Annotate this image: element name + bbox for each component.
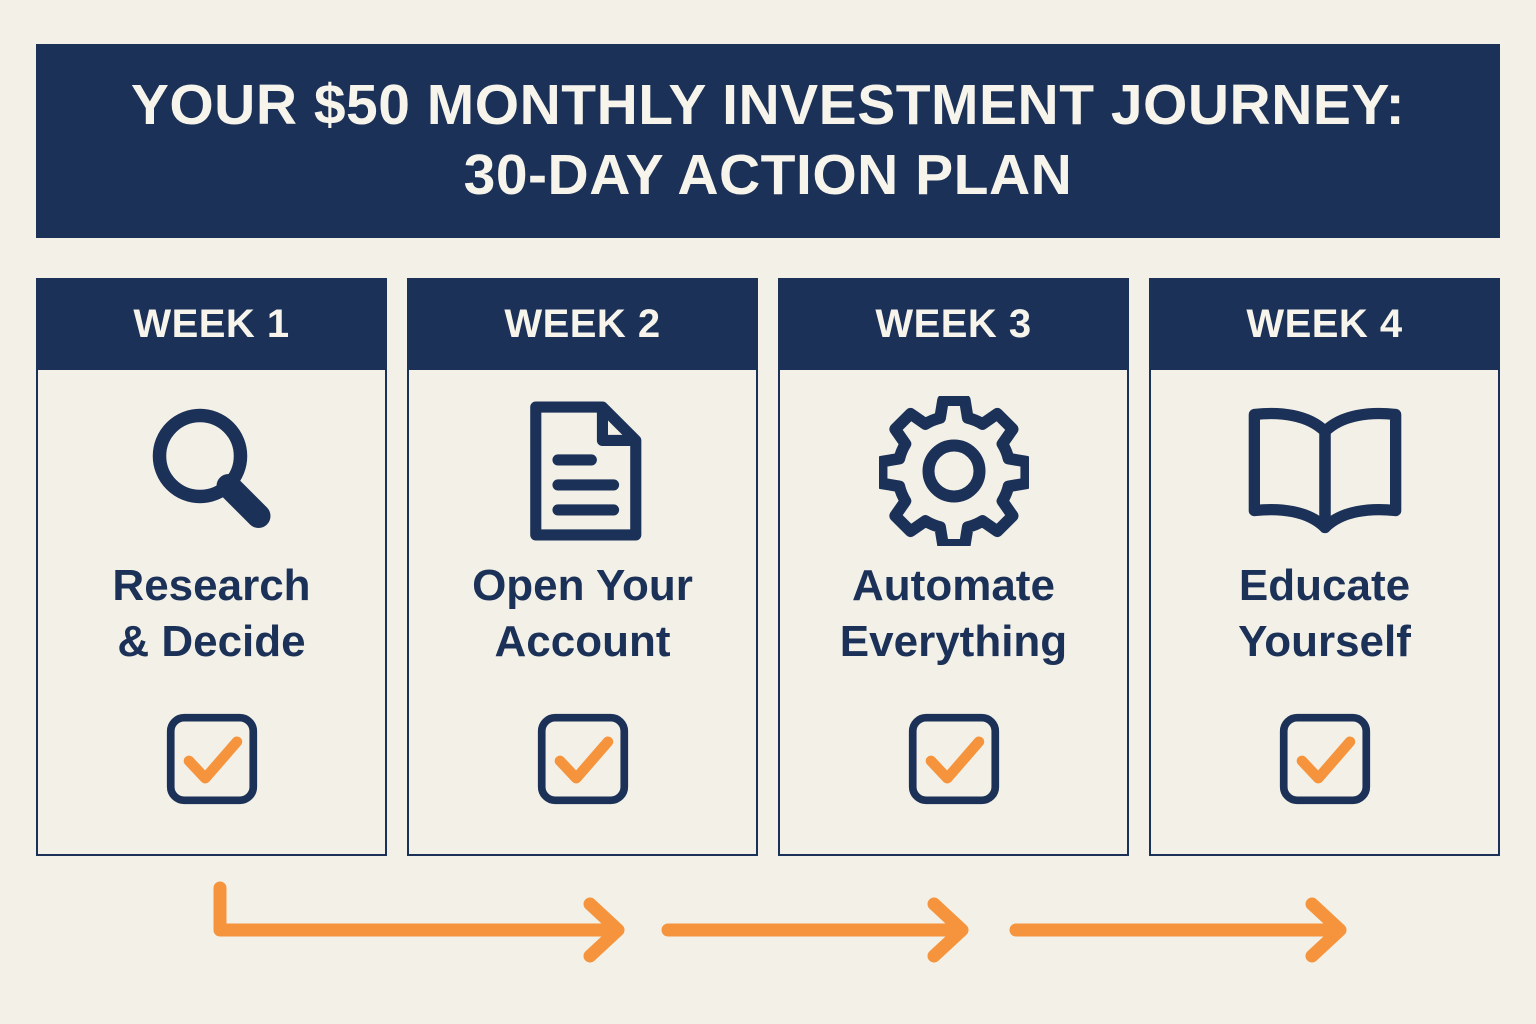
week-card-1-header: WEEK 1 bbox=[36, 278, 387, 370]
week-card-1-header-label: WEEK 1 bbox=[133, 302, 289, 347]
week-card-3-body: Automate Everything bbox=[780, 370, 1127, 854]
week-card-4-checkbox[interactable] bbox=[1277, 711, 1373, 812]
progress-arrow-week1-to-week2 bbox=[208, 868, 648, 992]
title-line-2: 30-DAY ACTION PLAN bbox=[464, 141, 1073, 211]
week-card-4-header-label: WEEK 4 bbox=[1246, 302, 1402, 347]
week-card-2-title: Open Your Account bbox=[472, 558, 693, 671]
week-card-2-body: Open Your Account bbox=[409, 370, 756, 854]
week-card-3[interactable]: WEEK 3 Automate Everything bbox=[778, 278, 1129, 856]
magnifying-glass-icon bbox=[137, 396, 287, 546]
open-book-icon bbox=[1240, 396, 1410, 546]
week-card-1-title: Research & Decide bbox=[112, 558, 310, 671]
title-banner: YOUR $50 MONTHLY INVESTMENT JOURNEY: 30-… bbox=[36, 44, 1500, 238]
week-card-2-header-label: WEEK 2 bbox=[504, 302, 660, 347]
week-card-2-header: WEEK 2 bbox=[407, 278, 758, 370]
week-card-4-header: WEEK 4 bbox=[1149, 278, 1500, 370]
week-card-2[interactable]: WEEK 2 Open Your Account bbox=[407, 278, 758, 856]
week-card-4-title: Educate Yourself bbox=[1238, 558, 1411, 671]
week-card-3-header: WEEK 3 bbox=[778, 278, 1129, 370]
progress-arrow-week2-to-week3 bbox=[660, 868, 990, 992]
title-line-1: YOUR $50 MONTHLY INVESTMENT JOURNEY: bbox=[131, 71, 1405, 141]
gear-icon bbox=[879, 396, 1029, 546]
week-card-3-header-label: WEEK 3 bbox=[875, 302, 1031, 347]
progress-arrow-week3-to-week4 bbox=[1008, 868, 1368, 992]
week-card-1-body: Research & Decide bbox=[38, 370, 385, 854]
progress-arrows-row bbox=[36, 868, 1500, 992]
week-card-4-body: Educate Yourself bbox=[1151, 370, 1498, 854]
week-card-2-checkbox[interactable] bbox=[535, 711, 631, 812]
week-card-3-checkbox[interactable] bbox=[906, 711, 1002, 812]
document-icon bbox=[513, 396, 653, 546]
week-card-1-checkbox[interactable] bbox=[164, 711, 260, 812]
week-card-4[interactable]: WEEK 4 Educate Yourself bbox=[1149, 278, 1500, 856]
week-cards-row: WEEK 1 Research & Decide WEEK 2 bbox=[36, 278, 1500, 856]
week-card-3-title: Automate Everything bbox=[840, 558, 1067, 671]
week-card-1[interactable]: WEEK 1 Research & Decide bbox=[36, 278, 387, 856]
